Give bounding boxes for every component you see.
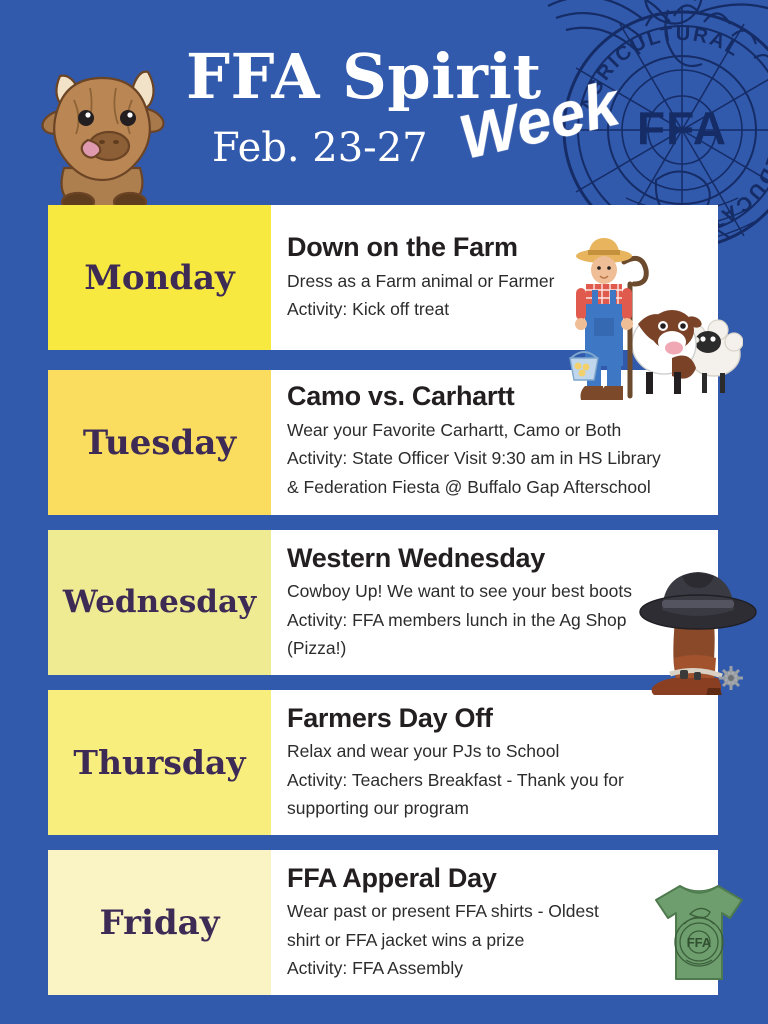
day-cell-thursday: Thursday bbox=[48, 690, 271, 835]
detail-line: Cowboy Up! We want to see your best boot… bbox=[287, 577, 632, 605]
highland-cow-calf-icon bbox=[30, 42, 175, 214]
detail-line: Activity: Kick off treat bbox=[287, 295, 598, 323]
day-cell-monday: Monday bbox=[48, 205, 271, 350]
detail-line: (Pizza!) bbox=[287, 634, 632, 662]
detail-line: Activity: FFA members lunch in the Ag Sh… bbox=[287, 606, 632, 634]
detail-cell-thursday: Farmers Day Off Relax and wear your PJs … bbox=[271, 690, 718, 835]
schedule-row-monday: Monday Down on the Farm Dress as a Farm … bbox=[48, 205, 718, 350]
date-range: Feb. 23-27 bbox=[212, 128, 428, 168]
day-cell-tuesday: Tuesday bbox=[48, 370, 271, 515]
detail-line: Activity: State Officer Visit 9:30 am in… bbox=[287, 444, 704, 472]
day-label: Monday bbox=[84, 261, 235, 295]
detail-line: shirt or FFA jacket wins a prize bbox=[287, 926, 608, 954]
detail-line: Activity: Teachers Breakfast - Thank you… bbox=[287, 766, 704, 794]
detail-cell-friday: FFA Apperal Day Wear past or present FFA… bbox=[271, 850, 718, 995]
theme-title: Camo vs. Carhartt bbox=[287, 381, 704, 412]
poster-header: FFA Spirit Feb. 23-27 Week bbox=[0, 0, 768, 205]
theme-title: Down on the Farm bbox=[287, 232, 598, 263]
ffa-spirit-week-poster: AGRICULTURAL EDUCATION FFA bbox=[0, 0, 768, 1024]
detail-line: & Federation Fiesta @ Buffalo Gap Afters… bbox=[287, 473, 704, 501]
schedule-row-friday: Friday FFA Apperal Day Wear past or pres… bbox=[48, 850, 718, 995]
detail-line: Wear your Favorite Carhartt, Camo or Bot… bbox=[287, 416, 704, 444]
schedule-row-tuesday: Tuesday Camo vs. Carhartt Wear your Favo… bbox=[48, 370, 718, 515]
detail-line: supporting our program bbox=[287, 794, 704, 822]
day-label: Tuesday bbox=[83, 426, 236, 460]
detail-line: Activity: FFA Assembly bbox=[287, 954, 608, 982]
detail-cell-wednesday: Western Wednesday Cowboy Up! We want to … bbox=[271, 530, 727, 675]
day-cell-wednesday: Wednesday bbox=[48, 530, 271, 675]
detail-cell-monday: Down on the Farm Dress as a Farm animal … bbox=[271, 205, 718, 350]
theme-title: Farmers Day Off bbox=[287, 703, 704, 734]
detail-line: Relax and wear your PJs to School bbox=[287, 737, 704, 765]
detail-cell-tuesday: Camo vs. Carhartt Wear your Favorite Car… bbox=[271, 370, 718, 515]
day-label: Friday bbox=[100, 906, 220, 940]
theme-title: FFA Apperal Day bbox=[287, 863, 608, 894]
day-cell-friday: Friday bbox=[48, 850, 271, 995]
day-label: Wednesday bbox=[63, 587, 256, 618]
detail-line: Wear past or present FFA shirts - Oldest bbox=[287, 897, 608, 925]
theme-title: Western Wednesday bbox=[287, 543, 632, 574]
schedule-row-thursday: Thursday Farmers Day Off Relax and wear … bbox=[48, 690, 718, 835]
detail-line: Dress as a Farm animal or Farmer bbox=[287, 267, 598, 295]
day-label: Thursday bbox=[73, 746, 245, 779]
schedule-row-wednesday: Wednesday Western Wednesday Cowboy Up! W… bbox=[48, 530, 718, 675]
